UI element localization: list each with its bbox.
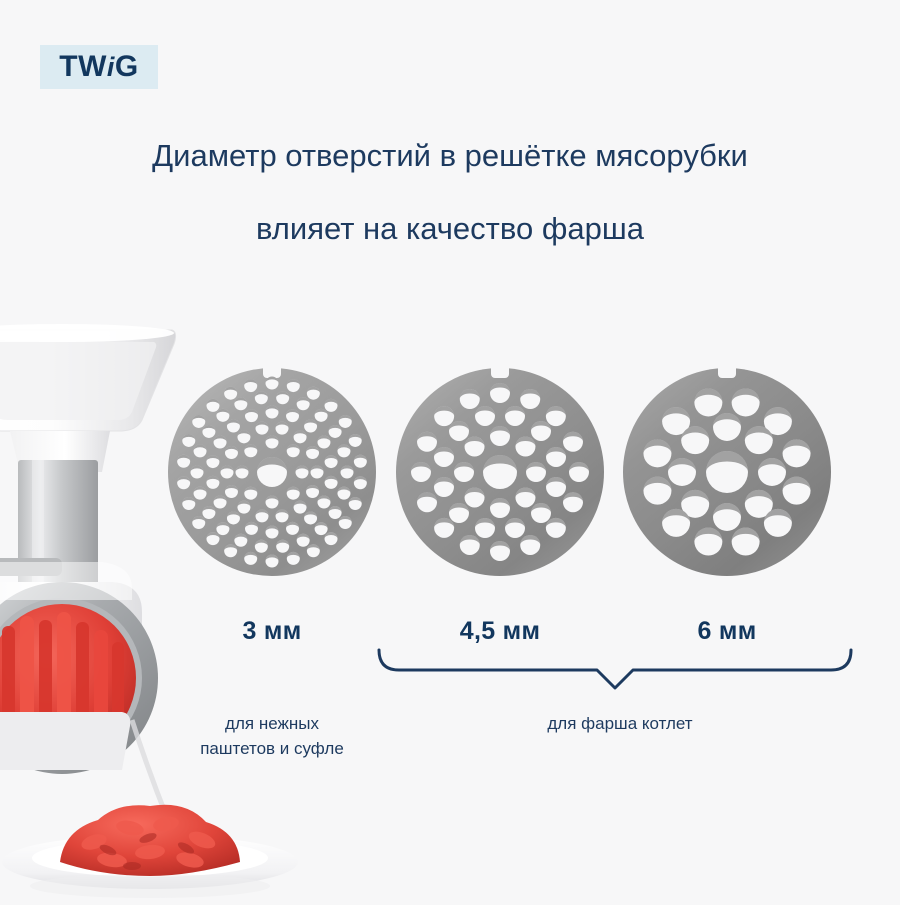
headline: Диаметр отверстий в решётке мясорубки вл… [0,140,900,244]
brand-logo-part2: G [115,50,139,83]
size-label-3mm: 3 мм [186,617,358,646]
headline-line-1: Диаметр отверстий в решётке мясорубки [0,140,900,171]
size-label-6mm: 6 мм [641,617,813,646]
headline-line-2: влияет на качество фарша [0,213,900,244]
plate-with-minced-meat [0,790,310,900]
brand-logo-text: TWiG [59,52,139,82]
caption-left: для нежных паштетов и суфле [162,712,382,761]
size-label-45mm: 4,5 мм [414,617,586,646]
grouping-brace [375,648,855,698]
grinder-plate-3mm [166,366,378,578]
grinder-plate-6mm [621,366,833,578]
brand-logo: TWiG [40,45,158,89]
infographic-canvas: TWiG Диаметр отверстий в решётке мясоруб… [0,0,900,900]
brand-logo-part1: TW [59,50,107,83]
caption-right: для фарша котлет [505,712,735,737]
grinder-plate-45mm [394,366,606,578]
brand-logo-part-i: i [107,52,115,82]
